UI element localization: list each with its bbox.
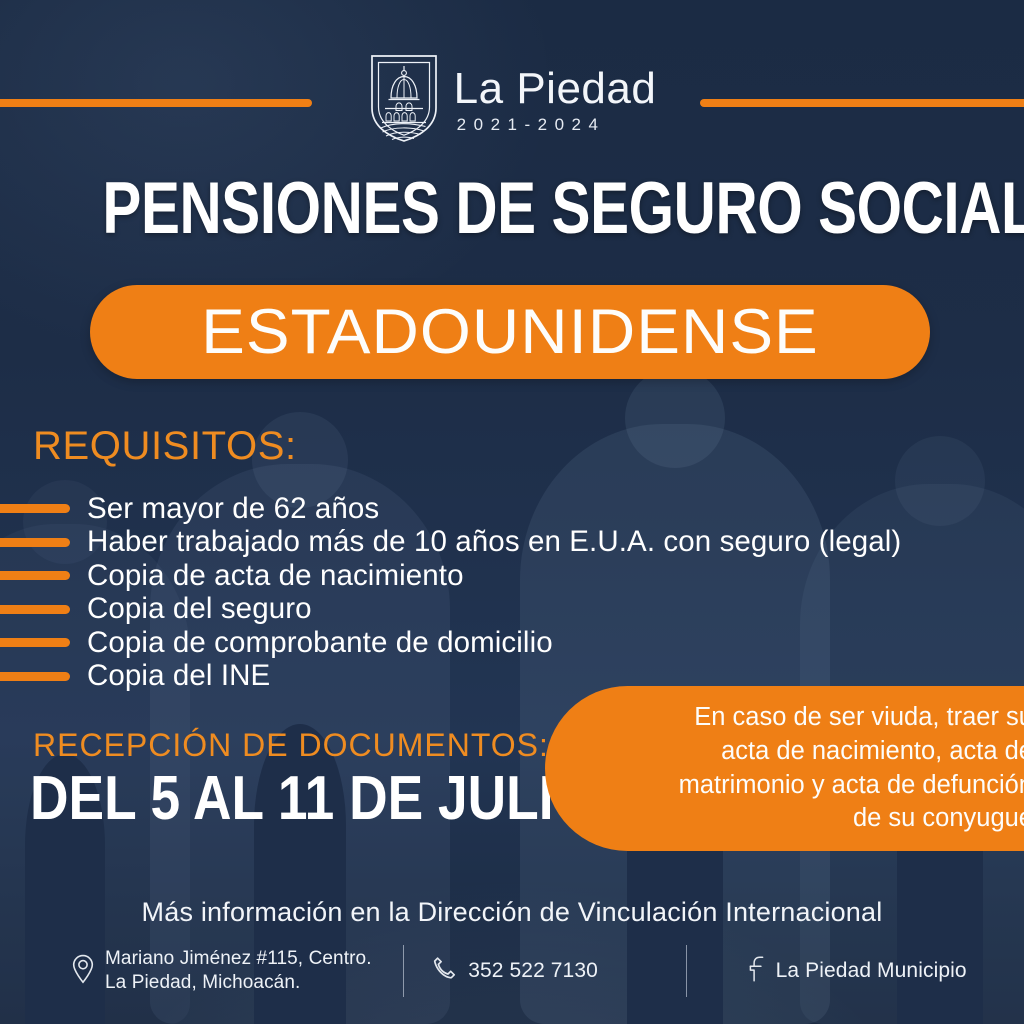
brand-lockup: La Piedad 2021-2024 (0, 52, 1024, 144)
list-item-label: Haber trabajado más de 10 años en E.U.A.… (87, 525, 901, 559)
banner-label: ESTADOUNIDENSE (201, 296, 819, 368)
reception-dates: DEL 5 AL 11 DE JULIO (30, 763, 595, 834)
location-pin-icon (72, 954, 94, 989)
bullet-dash-icon (0, 638, 70, 647)
bullet-dash-icon (0, 605, 70, 614)
page-title: PENSIONES DE SEGURO SOCIAL (102, 167, 921, 250)
poster-canvas: La Piedad 2021-2024 PENSIONES DE SEGURO … (0, 0, 1024, 1024)
phone-icon (432, 956, 457, 986)
bullet-dash-icon (0, 538, 70, 547)
callout-line: En caso de ser viuda, traer su (585, 701, 1024, 735)
list-item-label: Copia del seguro (87, 592, 312, 626)
contact-facebook[interactable]: La Piedad Municipio (687, 956, 1024, 987)
bullet-dash-icon (0, 571, 70, 580)
phone-number: 352 522 7130 (468, 959, 598, 983)
list-item-label: Ser mayor de 62 años (87, 492, 379, 526)
callout-line: de su conyugue (585, 802, 1024, 836)
reception-heading: RECEPCIÓN DE DOCUMENTOS: (33, 727, 549, 764)
requirements-heading: REQUISITOS: (33, 424, 297, 469)
widow-notice-text: En caso de ser viuda, traer su acta de n… (585, 701, 1024, 837)
list-item-label: Copia de acta de nacimiento (87, 559, 464, 593)
facebook-icon (747, 956, 765, 987)
contact-phone[interactable]: 352 522 7130 (404, 956, 685, 986)
facebook-handle: La Piedad Municipio (776, 959, 967, 983)
bullet-dash-icon (0, 672, 70, 681)
contact-row: Mariano Jiménez #115, Centro. La Piedad,… (0, 940, 1024, 1002)
la-piedad-shield-icon (368, 52, 440, 144)
brand-years: 2021-2024 (454, 116, 657, 133)
list-item: Copia de comprobante de domicilio (0, 626, 1024, 660)
list-item: Copia del seguro (0, 593, 1024, 627)
more-info-text: Más información en la Dirección de Vincu… (0, 897, 1024, 928)
widow-notice-callout: En caso de ser viuda, traer su acta de n… (545, 686, 1024, 851)
bullet-dash-icon (0, 504, 70, 513)
address-line-2: La Piedad, Michoacán. (105, 971, 372, 995)
brand-name: La Piedad (454, 67, 657, 111)
banner-estadounidense: ESTADOUNIDENSE (90, 285, 930, 379)
list-item-label: Copia de comprobante de domicilio (87, 626, 553, 660)
list-item: Haber trabajado más de 10 años en E.U.A.… (0, 526, 1024, 560)
list-item: Copia de acta de nacimiento (0, 559, 1024, 593)
list-item: Ser mayor de 62 años (0, 492, 1024, 526)
contact-address: Mariano Jiménez #115, Centro. La Piedad,… (0, 947, 403, 995)
callout-line: acta de nacimiento, acta de (585, 735, 1024, 769)
callout-line: matrimonio y acta de defunción (585, 769, 1024, 803)
address-line-1: Mariano Jiménez #115, Centro. (105, 947, 372, 971)
requirements-list: Ser mayor de 62 años Haber trabajado más… (0, 492, 1024, 693)
list-item-label: Copia del INE (87, 659, 270, 693)
